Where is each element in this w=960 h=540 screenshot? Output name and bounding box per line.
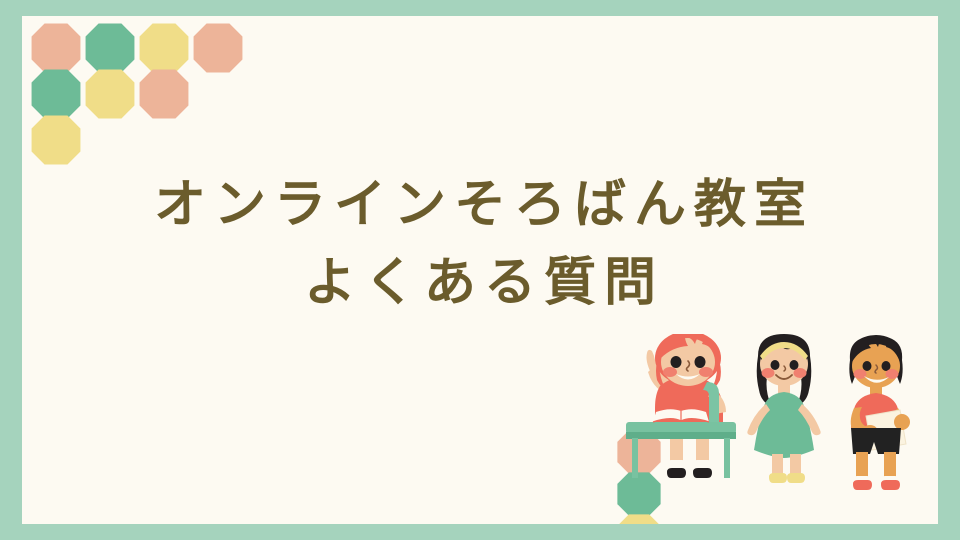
hexagon-decoration: [84, 22, 136, 74]
title-line-2: よくある質問: [22, 244, 938, 322]
boy-raising-hand: [626, 334, 736, 478]
title-line-1: オンラインそろばん教室: [22, 166, 938, 244]
hexagon-decoration: [30, 22, 82, 74]
slide-card: オンラインそろばん教室 よくある質問: [22, 16, 938, 524]
hexagon-decoration: [30, 68, 82, 120]
hexagon-decoration: [192, 22, 244, 74]
slide-canvas: オンラインそろばん教室 よくある質問: [0, 0, 960, 540]
page-title: オンラインそろばん教室 よくある質問: [22, 166, 938, 322]
hexagon-decoration: [84, 68, 136, 120]
open-book: [653, 409, 709, 422]
children-illustration: [608, 334, 938, 524]
boy-holding-paper: [849, 335, 910, 490]
hexagon-decoration: [138, 22, 190, 74]
girl-in-green-dress: [747, 334, 820, 483]
hexagon-decoration: [30, 114, 82, 166]
hexagon-decoration: [138, 68, 190, 120]
